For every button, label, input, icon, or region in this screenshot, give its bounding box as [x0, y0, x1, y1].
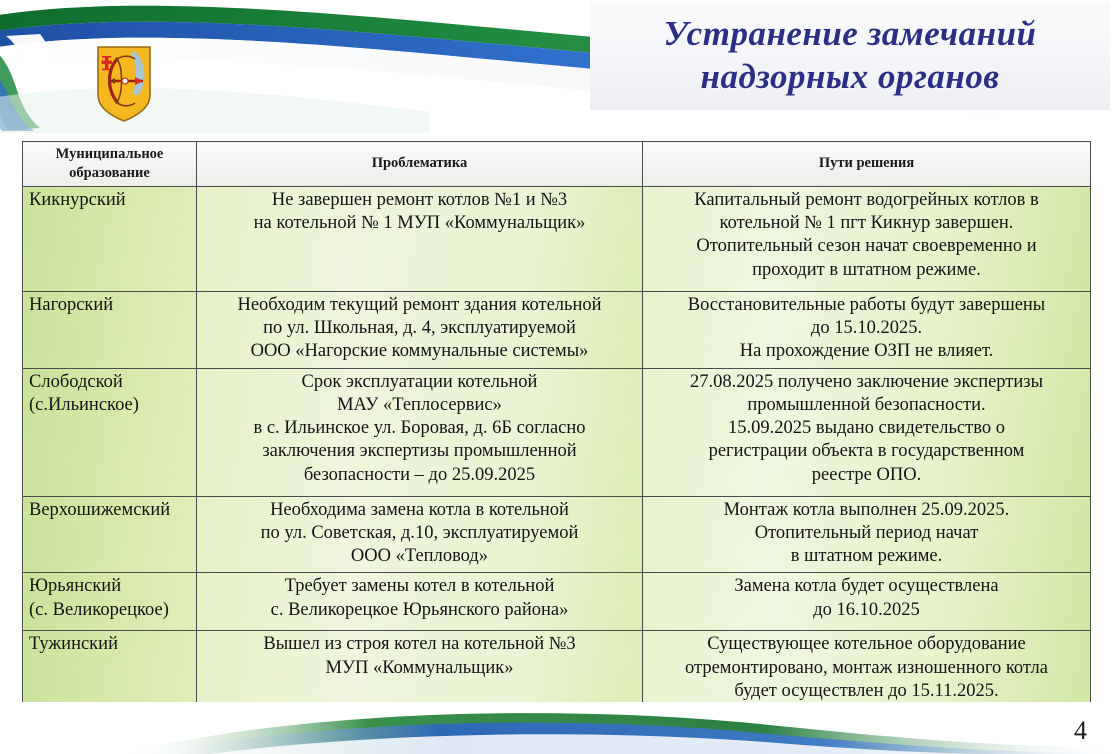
cell-problem-line: Вышел из строя котел на котельной №3 — [201, 633, 638, 656]
cell-problem-line: на котельной № 1 МУП «Коммунальщик» — [201, 212, 638, 235]
cell-solution: Капитальный ремонт водогрейных котлов вк… — [643, 186, 1091, 291]
table-header: Муниципальное образование Проблематика П… — [23, 142, 1091, 187]
coat-of-arms-icon — [95, 45, 153, 123]
cell-solution-line: котельной № 1 пгт Кикнур завершен. — [647, 212, 1086, 235]
table-header-row: Муниципальное образование Проблематика П… — [23, 142, 1091, 187]
cell-solution-line: реестре ОПО. — [647, 464, 1086, 487]
cell-solution-line: Монтаж котла выполнен 25.09.2025. — [647, 499, 1086, 522]
slide-title-line-1: Устранение замечаний — [663, 13, 1036, 56]
cell-solution-line: Существующее котельное оборудование — [647, 633, 1086, 656]
cell-problem-line: безопасности – до 25.09.2025 — [201, 464, 638, 487]
cell-solution-line: в штатном режиме. — [647, 545, 1086, 568]
cell-problem-line: ООО «Нагорские коммунальные системы» — [201, 340, 638, 363]
cell-problem-line: МАУ «Теплосервис» — [201, 394, 638, 417]
cell-problem: Срок эксплуатации котельнойМАУ «Теплосер… — [197, 368, 643, 496]
cell-solution-line: промышленной безопасности. — [647, 394, 1086, 417]
cell-problem-line: по ул. Школьная, д. 4, эксплуатируемой — [201, 317, 638, 340]
cell-municipality: Верхошижемский — [23, 496, 197, 573]
cell-problem-line: Не завершен ремонт котлов №1 и №3 — [201, 189, 638, 212]
cell-municipality: Слободской(с.Ильинское) — [23, 368, 197, 496]
content-table-wrapper: Муниципальное образование Проблематика П… — [22, 141, 1090, 732]
cell-problem-line: в с. Ильинское ул. Боровая, д. 6Б соглас… — [201, 417, 638, 440]
cell-solution-line: На прохождение ОЗП не влияет. — [647, 340, 1086, 363]
cell-problem-line: Необходим текущий ремонт здания котельно… — [201, 294, 638, 317]
cell-problem: Не завершен ремонт котлов №1 и №3на коте… — [197, 186, 643, 291]
cell-problem: Требует замены котел в котельнойс. Велик… — [197, 573, 643, 631]
footer-ribbon-graphic — [0, 702, 1113, 754]
cell-problem-line: с. Великорецкое Юрьянского района» — [201, 599, 638, 622]
cell-problem-line: Необходима замена котла в котельной — [201, 499, 638, 522]
cell-solution: Замена котла будет осуществленадо 16.10.… — [643, 573, 1091, 631]
cell-municipality-line: Верхошижемский — [29, 499, 192, 522]
cell-solution: 27.08.2025 получено заключение экспертиз… — [643, 368, 1091, 496]
table-body: КикнурскийНе завершен ремонт котлов №1 и… — [23, 186, 1091, 731]
column-header-municipality: Муниципальное образование — [23, 142, 197, 187]
cell-municipality-line: (с. Великорецкое) — [29, 599, 192, 622]
cell-problem-line: заключения экспертизы промышленной — [201, 440, 638, 463]
slide-title-line-2: надзорных органов — [701, 56, 1000, 99]
cell-municipality-line: (с.Ильинское) — [29, 394, 192, 417]
slide: Устранение замечаний надзорных органов М… — [0, 0, 1113, 754]
slide-title: Устранение замечаний надзорных органов — [590, 2, 1110, 110]
cell-municipality: Нагорский — [23, 291, 197, 368]
cell-municipality-line: Юрьянский — [29, 575, 192, 598]
cell-municipality-line: Тужинский — [29, 633, 192, 656]
cell-solution-line: регистрации объекта в государственном — [647, 440, 1086, 463]
cell-solution: Монтаж котла выполнен 25.09.2025.Отопите… — [643, 496, 1091, 573]
cell-municipality-line: Кикнурский — [29, 189, 192, 212]
column-header-solution: Пути решения — [643, 142, 1091, 187]
table-row: КикнурскийНе завершен ремонт котлов №1 и… — [23, 186, 1091, 291]
cell-solution-line: Восстановительные работы будут завершены — [647, 294, 1086, 317]
cell-problem-line: Срок эксплуатации котельной — [201, 371, 638, 394]
column-header-municipality-line-1: Муниципальное — [29, 145, 190, 164]
table-row: ВерхошижемскийНеобходима замена котла в … — [23, 496, 1091, 573]
column-header-problem: Проблематика — [197, 142, 643, 187]
cell-solution-line: проходит в штатном режиме. — [647, 259, 1086, 282]
column-header-municipality-line-2: образование — [29, 164, 190, 183]
cell-problem-line: ООО «Тепловод» — [201, 545, 638, 568]
cell-problem-line: Требует замены котел в котельной — [201, 575, 638, 598]
cell-solution-line: отремонтировано, монтаж изношенного котл… — [647, 657, 1086, 680]
cell-solution-line: Отопительный сезон начат своевременно и — [647, 235, 1086, 258]
cell-solution-line: до 16.10.2025 — [647, 599, 1086, 622]
cell-problem-line: МУП «Коммунальщик» — [201, 657, 638, 680]
cell-solution-line: Замена котла будет осуществлена — [647, 575, 1086, 598]
cell-municipality-line: Нагорский — [29, 294, 192, 317]
cell-solution-line: 27.08.2025 получено заключение экспертиз… — [647, 371, 1086, 394]
cell-municipality: Кикнурский — [23, 186, 197, 291]
cell-solution-line: Отопительный период начат — [647, 522, 1086, 545]
cell-solution-line: 15.09.2025 выдано свидетельство о — [647, 417, 1086, 440]
table-row: Юрьянский(с. Великорецкое)Требует замены… — [23, 573, 1091, 631]
cell-solution-line: Капитальный ремонт водогрейных котлов в — [647, 189, 1086, 212]
cell-solution-line: будет осуществлен до 15.11.2025. — [647, 680, 1086, 703]
cell-solution: Восстановительные работы будут завершены… — [643, 291, 1091, 368]
cell-municipality: Юрьянский(с. Великорецкое) — [23, 573, 197, 631]
cell-solution-line: до 15.10.2025. — [647, 317, 1086, 340]
table-row: НагорскийНеобходим текущий ремонт здания… — [23, 291, 1091, 368]
table-row: Слободской(с.Ильинское)Срок эксплуатации… — [23, 368, 1091, 496]
cell-problem: Необходима замена котла в котельнойпо ул… — [197, 496, 643, 573]
page-number: 4 — [1074, 716, 1087, 746]
cell-problem-line: по ул. Советская, д.10, эксплуатируемой — [201, 522, 638, 545]
cell-problem: Необходим текущий ремонт здания котельно… — [197, 291, 643, 368]
issues-table: Муниципальное образование Проблематика П… — [22, 141, 1091, 732]
cell-municipality-line: Слободской — [29, 371, 192, 394]
